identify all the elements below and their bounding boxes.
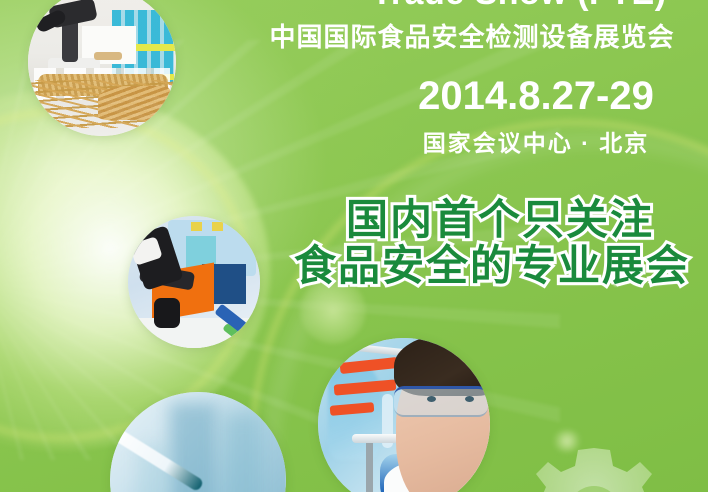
lab-microscope-wheat-photo xyxy=(28,0,176,136)
scientist-goggles-photo xyxy=(318,338,490,492)
poster-venue: 国家会议中心 · 北京 xyxy=(380,124,692,158)
photo-stand xyxy=(366,442,373,492)
photo-wheat-heads xyxy=(98,86,170,120)
photo-blur-shape-2 xyxy=(223,413,262,492)
photo-eye-left xyxy=(427,396,436,402)
poster-headline-line-2: 食品安全的专业展会 xyxy=(292,232,692,293)
photo-yellow-marker-2 xyxy=(212,222,223,231)
poster-title-english: Trade Show (FTE) xyxy=(330,0,708,13)
exhibition-poster-banner: Trade Show (FTE) 中国国际食品安全检测设备展览会 2014.8.… xyxy=(0,0,708,492)
photo-safety-goggles xyxy=(394,386,488,417)
photo-microscope-objective xyxy=(154,298,180,328)
photo-grain-sample xyxy=(94,52,122,60)
pipette-blue-lab-photo xyxy=(110,392,286,492)
gear-icon xyxy=(494,440,694,492)
photo-eye-right xyxy=(465,396,474,402)
poster-title-chinese: 中国国际食品安全检测设备展览会 xyxy=(250,17,694,54)
poster-date: 2014.8.27-29 xyxy=(380,74,692,119)
photo-yellow-marker-1 xyxy=(191,222,202,231)
lab-microscope-equipment-photo xyxy=(128,216,260,348)
